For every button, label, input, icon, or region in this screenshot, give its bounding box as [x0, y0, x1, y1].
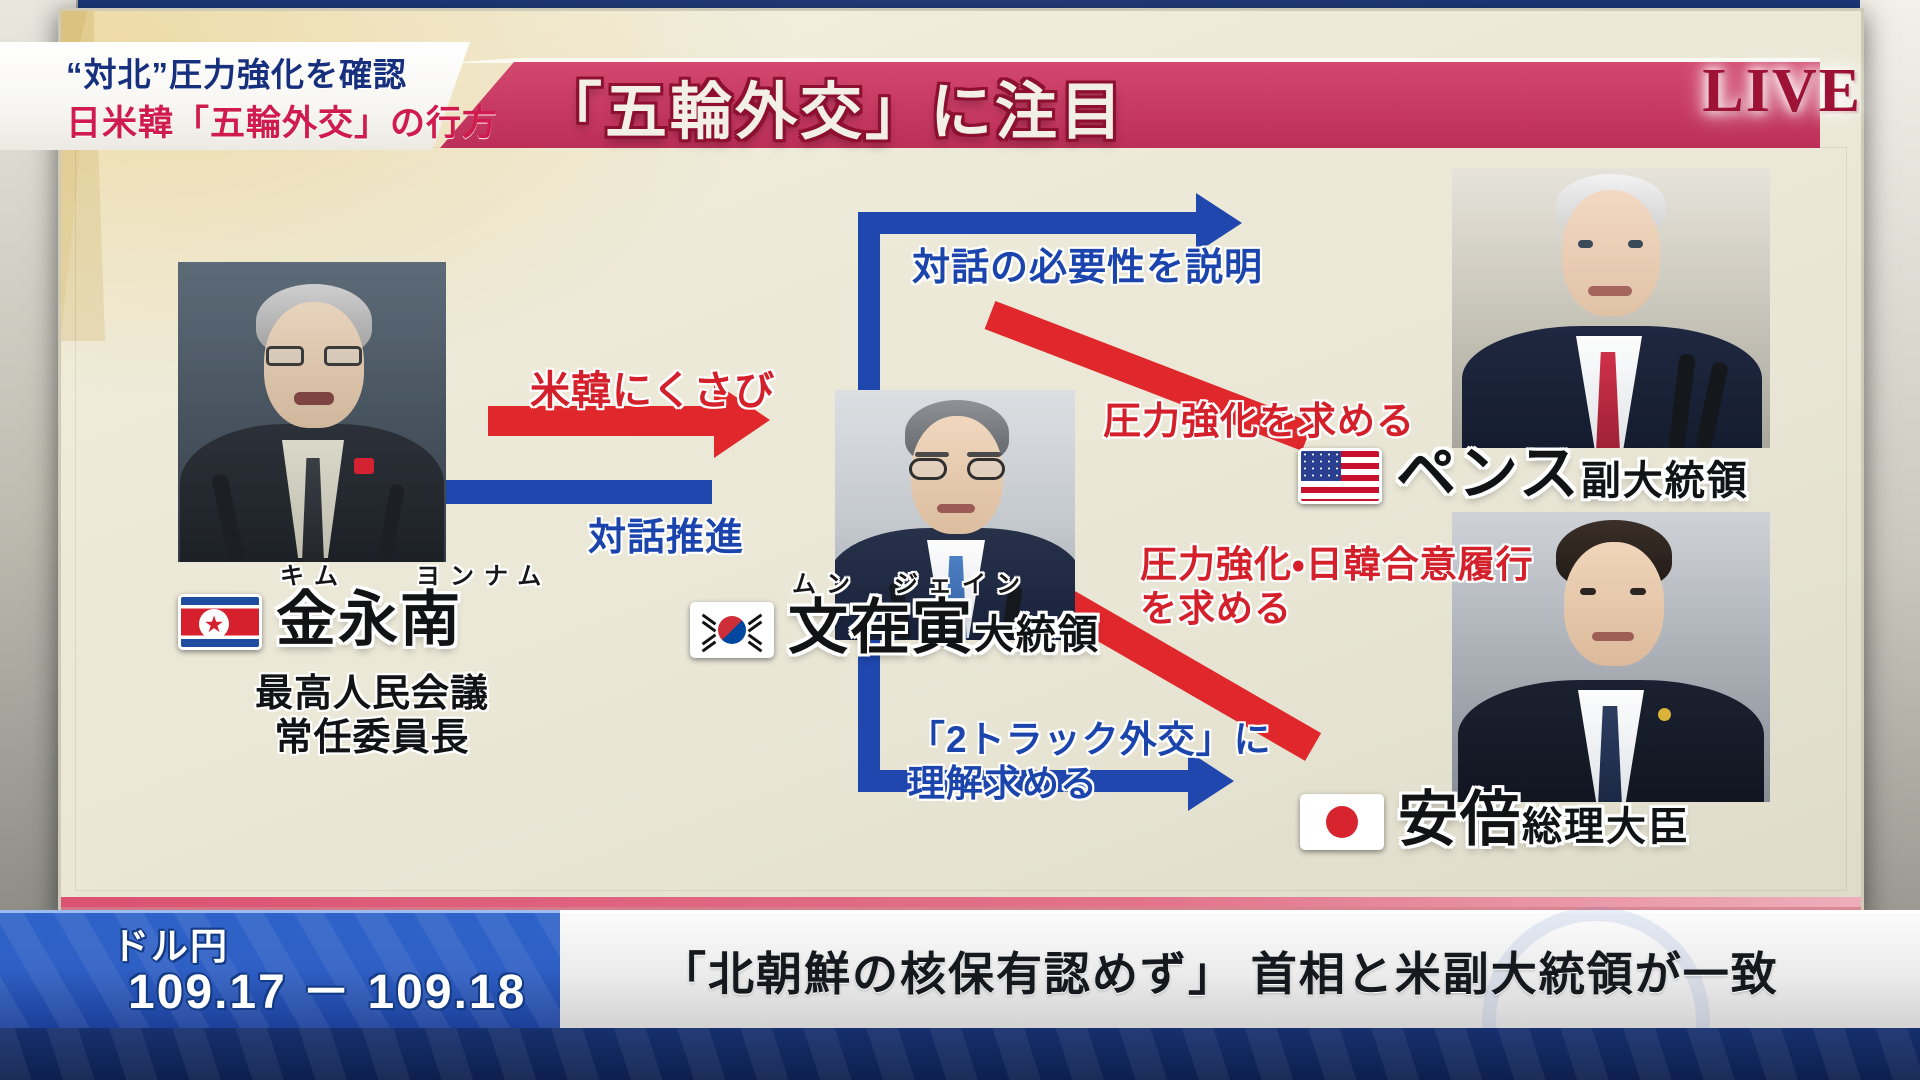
subtitle-kim: 最高人民会議 常任委員長: [255, 672, 489, 760]
panel-bottom-accent: [61, 897, 1861, 907]
lapel-pin-icon: [1658, 708, 1671, 721]
label-pressure: 圧力強化を求める: [1103, 400, 1415, 445]
portrait-mike-pence: [1452, 168, 1770, 448]
glasses-icon: [266, 346, 362, 366]
page-title: 「五輪外交」に注目: [540, 64, 1540, 148]
japan-flag-icon: [1300, 794, 1384, 850]
bottom-strip: [0, 1028, 1920, 1080]
live-badge: LIVE: [1702, 56, 1862, 127]
arrow-moon-to-pence-horizontal: [858, 212, 1206, 234]
nameplate-mike-pence: ペンス副大統領: [1298, 444, 1749, 504]
corner-banner-line2: 日米韓「五輪外交」の行方: [66, 95, 498, 146]
broadcast-screen: 「五輪外交」に注目 LIVE “対北”圧力強化を確認 日米韓「五輪外交」の行方: [0, 0, 1920, 1080]
role-moon: 大統領: [974, 613, 1100, 657]
label-wedge: 米韓にくさび: [530, 368, 775, 415]
glasses-icon: [909, 458, 1005, 480]
fx-rate-value: 109.17 － 109.18: [128, 952, 526, 1022]
nameplate-moon-jae-in: ムン ジェイン 文在寅大統領: [690, 598, 1100, 658]
label-dialogue-need: 対話の必要性を説明: [912, 246, 1263, 291]
north-korea-flag-icon: ★: [178, 594, 262, 650]
role-pence: 副大統領: [1581, 459, 1749, 503]
portrait-kim-yong-nam: [178, 262, 446, 562]
label-pressure-agreement: 圧力強化・日韓合意履行 を求める: [1140, 543, 1534, 630]
label-dialogue-promote: 対話推進: [588, 516, 744, 561]
lapel-badge-icon: [354, 458, 374, 474]
studio-right-wall: [1860, 0, 1920, 920]
news-ticker: 「北朝鮮の核保有認めず」 首相と米副大統領が一致: [560, 910, 1920, 1028]
name-moon: 文在寅: [788, 594, 974, 661]
furigana-moon: ムン ジェイン: [792, 564, 1030, 599]
ticker-headline: 「北朝鮮の核保有認めず」 首相と米副大統領が一致: [660, 938, 1779, 1004]
nameplate-shinzo-abe: 安倍総理大臣: [1300, 790, 1690, 850]
name-pence: ペンス: [1396, 440, 1581, 507]
name-abe: 安倍: [1398, 786, 1522, 853]
united-states-flag-icon: [1298, 448, 1382, 504]
corner-banner-line1: “対北”圧力強化を確認: [66, 48, 407, 96]
label-two-track: 「2トラック外交」に 理解求める: [908, 718, 1272, 805]
nameplate-kim-yong-nam: ★ キム ヨンナム 金永南: [178, 590, 462, 650]
name-kim: 金永南: [276, 590, 462, 650]
south-korea-flag-icon: [690, 602, 774, 658]
role-abe: 総理大臣: [1522, 805, 1690, 849]
furigana-kim: キム ヨンナム: [280, 556, 551, 591]
arrow-moon-to-pence-head-icon: [1196, 193, 1242, 253]
